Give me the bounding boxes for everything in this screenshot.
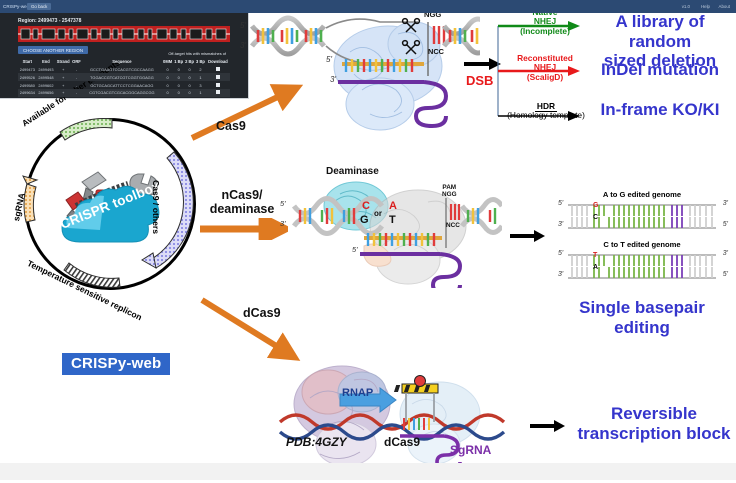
cell-download bbox=[206, 81, 230, 89]
label-five-prime-left: 5' bbox=[240, 22, 246, 31]
arrow-to-transcription-block bbox=[528, 418, 566, 434]
cell-2bp: 0 bbox=[184, 73, 195, 81]
label-five-prime-guide-row2: 5' bbox=[352, 246, 358, 254]
label-five-prime-guide: 5' bbox=[326, 56, 332, 65]
cell-strand: + bbox=[55, 73, 71, 81]
cell-3bp: 3 bbox=[195, 81, 206, 89]
crispy-web-screenshot[interactable]: CRISPy-web Go back v1.0 Help About Regio… bbox=[0, 0, 248, 98]
col-sequence: Sequence bbox=[82, 58, 162, 66]
label-three-prime-guide: 3' bbox=[330, 76, 336, 85]
cell-start: 2499580 bbox=[18, 81, 37, 89]
table-row[interactable]: 2499526 2499548 + - TGGACCGTCATCGTCGGTGG… bbox=[18, 73, 230, 81]
genome-right-top-c-to-t: 3' bbox=[723, 250, 728, 257]
base-label-a: A bbox=[389, 200, 397, 212]
cell-1bp: 0 bbox=[173, 81, 184, 89]
genome-left-top-a-to-g: 5' bbox=[558, 200, 563, 207]
genome-left-top-c-to-t: 5' bbox=[558, 250, 563, 257]
label-pam-line1-row2: PAM bbox=[442, 184, 456, 191]
edited-genome-a-to-g: A to G edited genome bbox=[556, 190, 728, 234]
dna-duplex-left bbox=[252, 18, 324, 54]
base-label-t: T bbox=[389, 214, 396, 226]
arrow-label-dcas9: dCas9 bbox=[243, 306, 281, 320]
arrow-to-edited-genomes bbox=[508, 228, 546, 244]
col-0mm: 0MM bbox=[162, 58, 173, 66]
label-ncc-row2: NCC bbox=[446, 222, 460, 229]
col-strand: Strand bbox=[55, 58, 71, 66]
result-indel-mutation: InDel mutation bbox=[586, 60, 734, 80]
rnap-protein-ribbon bbox=[294, 366, 390, 466]
cell-end: 2499656 bbox=[37, 89, 56, 97]
genome-base-top-a-to-g: G bbox=[593, 202, 598, 210]
pdb-label: PDB:4GZY bbox=[286, 436, 347, 449]
crispy-web-gene-track[interactable] bbox=[18, 26, 230, 42]
arc-sgrna-shape bbox=[24, 184, 36, 222]
arc-sgrna-arrowhead bbox=[23, 176, 37, 184]
genome-right-bottom-c-to-t: 5' bbox=[723, 271, 728, 278]
arc-available-shape bbox=[60, 118, 112, 140]
crispy-web-title: CRISPy-web bbox=[62, 353, 170, 375]
cell-3bp: 1 bbox=[195, 73, 206, 81]
col-3bp: 3 Bp bbox=[195, 58, 206, 66]
cell-0mm: 0 bbox=[162, 73, 173, 81]
dsb-label: DSB bbox=[466, 74, 493, 89]
cell-0mm: 0 bbox=[162, 81, 173, 89]
cell-start: 2499526 bbox=[18, 73, 37, 81]
cell-sequence: GCTGCAGCATTCCTCGGAACAGG bbox=[82, 81, 162, 89]
plasmid-map: CRISPR toolbox Available for other eleme… bbox=[6, 108, 216, 308]
cell-1bp: 0 bbox=[173, 66, 184, 74]
col-1bp: 1 Bp bbox=[173, 58, 184, 66]
crispy-web-brand[interactable]: CRISPy-web bbox=[3, 4, 29, 9]
cell-end: 2499602 bbox=[37, 81, 56, 89]
col-end: End bbox=[37, 58, 56, 66]
cell-sequence: TGGACCGTCATCGTCGGTGGAGG bbox=[82, 73, 162, 81]
arrow-label-ncas9-line2: deaminase bbox=[210, 202, 275, 216]
cell-2bp: 0 bbox=[184, 66, 195, 74]
sgrna-label: SgRNA bbox=[450, 444, 491, 457]
result-inframe-ko-ki: In-frame KO/KI bbox=[586, 100, 734, 120]
table-row[interactable]: 2499473 2499493 + - GCCTGAAGTCCACGTCGCCA… bbox=[18, 66, 230, 74]
cell-3bp: 2 bbox=[195, 66, 206, 74]
checkbox-icon[interactable] bbox=[216, 83, 220, 87]
dna-duplex-right-row2 bbox=[462, 200, 502, 233]
cell-strand: + bbox=[55, 66, 71, 74]
pathway-hdr-line3: (Homology template) bbox=[507, 110, 585, 120]
cell-end: 2499493 bbox=[37, 66, 56, 74]
crispy-web-navbar: CRISPy-web Go back v1.0 Help About bbox=[0, 0, 736, 13]
cell-3bp: 1 bbox=[195, 89, 206, 97]
base-label-g: G bbox=[360, 214, 369, 226]
cas9-complex-illustration: 5' 3' 5' 3' PAM NGG NCC bbox=[238, 4, 480, 132]
result-single-basepair-editing: Single basepair editing bbox=[556, 298, 728, 337]
rnap-label: RNAP bbox=[342, 387, 373, 399]
deaminase-complex-illustration: Deaminase 5' 3' 5' PAM NGG NCC C G or A … bbox=[290, 170, 502, 288]
table-header-row: Start End Strand ORF Sequence 0MM 1 Bp 2… bbox=[18, 58, 230, 66]
genome-title-a-to-g: A to G edited genome bbox=[556, 190, 728, 199]
cell-1bp: 0 bbox=[173, 73, 184, 81]
label-pam-line2-row2: NGG bbox=[442, 191, 457, 198]
label-three-prime-left: 3' bbox=[240, 42, 246, 51]
genome-base-bottom-c-to-t: A bbox=[593, 264, 598, 272]
cell-1bp: 0 bbox=[173, 89, 184, 97]
result-reversible-transcription-block: Reversible transcription block bbox=[576, 404, 732, 443]
col-2bp: 2 Bp bbox=[184, 58, 195, 66]
crispy-web-choose-region-button[interactable]: CHOOSE ANOTHER REGION bbox=[18, 46, 88, 54]
deaminase-label: Deaminase bbox=[326, 166, 379, 177]
arrow-ncas9-deaminase bbox=[196, 218, 288, 240]
base-label-c: C bbox=[362, 200, 370, 212]
base-label-or: or bbox=[374, 210, 382, 219]
col-orf: ORF bbox=[71, 58, 82, 66]
cell-end: 2499548 bbox=[37, 73, 56, 81]
crispy-web-group-header: Off-target hits with mismatches of bbox=[168, 51, 226, 56]
col-download: Download bbox=[206, 58, 230, 66]
cell-0mm: 0 bbox=[162, 66, 173, 74]
cell-0mm: 0 bbox=[162, 89, 173, 97]
crispy-web-help-link[interactable]: Help bbox=[701, 4, 710, 9]
cell-orf: - bbox=[71, 89, 82, 97]
cell-sequence: GCCTGAAGTCCACGTCGCCAAGG bbox=[82, 66, 162, 74]
arc-label-cas9-others: Cas9 / others bbox=[151, 180, 161, 234]
cell-2bp: 0 bbox=[184, 81, 195, 89]
cell-2bp: 0 bbox=[184, 89, 195, 97]
genome-base-top-c-to-t: T bbox=[593, 252, 597, 260]
arc-cas9-others-arrowhead bbox=[142, 253, 156, 268]
genome-title-c-to-t: C to T edited genome bbox=[556, 240, 728, 249]
cell-start: 2499473 bbox=[18, 66, 37, 74]
crispy-web-goback-button[interactable]: Go back bbox=[27, 3, 51, 10]
genome-left-bottom-c-to-t: 3' bbox=[558, 271, 563, 278]
dcas9-label: dCas9 bbox=[384, 436, 420, 449]
cell-orf: - bbox=[71, 81, 82, 89]
cell-sequence: CGTCGACGTCGCACGGCAGGCGG bbox=[82, 89, 162, 97]
checkbox-icon[interactable] bbox=[216, 90, 220, 94]
table-row[interactable]: 2499580 2499602 + - GCTGCAGCATTCCTCGGAAC… bbox=[18, 81, 230, 89]
cell-start: 2499634 bbox=[18, 89, 37, 97]
cas9-protein-ribbon bbox=[334, 22, 442, 130]
cell-orf: - bbox=[71, 73, 82, 81]
cell-strand: + bbox=[55, 89, 71, 97]
crispy-web-version-badge: v1.0 bbox=[682, 4, 690, 9]
label-ncc: NCC bbox=[428, 48, 444, 56]
label-three-prime-left-row2: 3' bbox=[280, 220, 286, 228]
genome-base-bottom-a-to-g: C bbox=[593, 214, 598, 222]
dna-duplex-right bbox=[444, 19, 480, 53]
crispy-web-about-link[interactable]: About bbox=[719, 4, 730, 9]
pathway-reconstituted-nhej-line3: (ScaligD) bbox=[527, 72, 563, 82]
arrow-label-ncas9-line1: nCas9/ bbox=[222, 188, 263, 202]
genome-left-bottom-a-to-g: 3' bbox=[558, 221, 563, 228]
checkbox-icon[interactable] bbox=[216, 75, 220, 79]
genome-right-bottom-a-to-g: 5' bbox=[723, 221, 728, 228]
crispy-web-footer-area bbox=[0, 463, 736, 480]
table-row[interactable]: 2499634 2499656 + - CGTCGACGTCGCACGGCAGG… bbox=[18, 89, 230, 97]
cell-strand: + bbox=[55, 81, 71, 89]
pathway-native-nhej-line3: (Incomplete) bbox=[520, 26, 570, 36]
label-five-prime-left-row2: 5' bbox=[280, 200, 286, 208]
col-start: Start bbox=[18, 58, 37, 66]
dcas9-transcription-block-illustration: RNAP PDB:4GZY dCas9 SgRNA bbox=[276, 358, 520, 478]
cell-orf: - bbox=[71, 66, 82, 74]
arrow-dcas9 bbox=[196, 292, 306, 366]
cell-download bbox=[206, 89, 230, 97]
genome-right-top-a-to-g: 3' bbox=[723, 200, 728, 207]
cell-download bbox=[206, 73, 230, 81]
cell-download bbox=[206, 66, 230, 74]
crispy-web-region-label: Region: 2499473 - 2547378 bbox=[18, 18, 81, 24]
checkbox-icon[interactable] bbox=[216, 67, 220, 71]
crispy-web-results-table: Off-target hits with mismatches of Start… bbox=[18, 58, 230, 97]
edited-genome-c-to-t: C to T edited genome bbox=[556, 240, 728, 284]
